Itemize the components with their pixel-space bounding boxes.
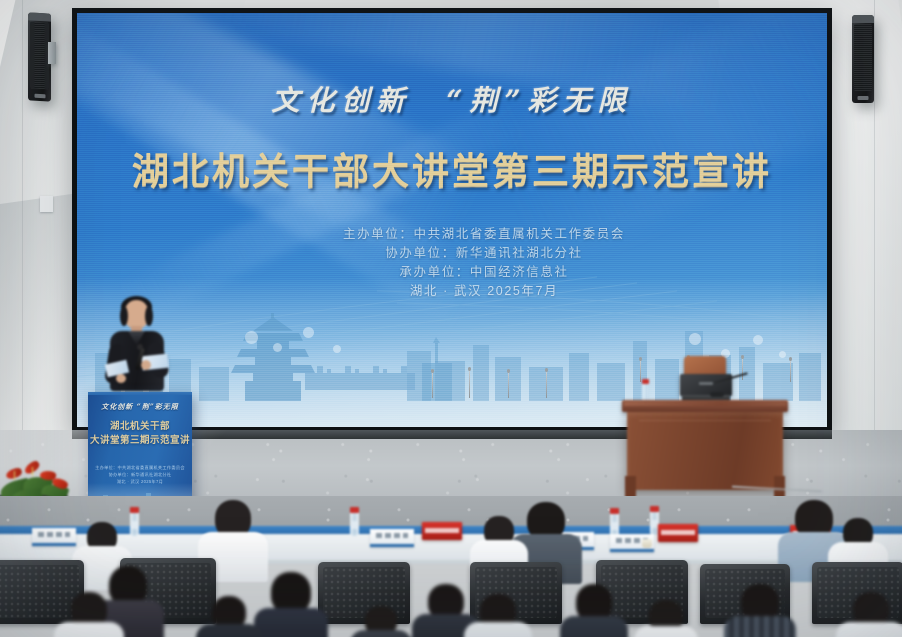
audience-member <box>724 584 796 637</box>
audience-member <box>464 594 532 637</box>
desk-microphone-base <box>710 392 724 397</box>
red-gift-box <box>658 524 698 542</box>
presenter-hand-left <box>116 374 126 383</box>
podium-org-line-2: 协办单位：新华通讯社湖北分社 <box>88 471 192 478</box>
audience-torso <box>54 622 124 637</box>
speaker-logo-left <box>34 94 45 99</box>
audience-torso <box>464 622 532 637</box>
podium-title-line-2: 大讲堂第三期示范宣讲 <box>88 434 192 448</box>
audience-torso <box>196 624 262 637</box>
mic-stand-5 <box>640 360 641 382</box>
presenter-hair-side-right <box>145 306 153 326</box>
mic-stand-4 <box>546 371 547 398</box>
wall-seam-left <box>22 0 23 470</box>
desk-water-bottle <box>642 383 649 401</box>
mic-stand-7 <box>742 358 743 380</box>
audience-torso <box>254 608 328 637</box>
audience-area <box>0 496 902 637</box>
conference-hall-photo: 文化创新 “荆”彩无限 湖北机关干部大讲堂第三期示范宣讲 主办单位：中共湖北省委… <box>0 0 902 637</box>
presenter-hair-side-left <box>120 306 128 326</box>
speaker-desk <box>622 400 788 498</box>
wall-speaker-right <box>852 15 874 103</box>
anthurium-stem-2 <box>32 467 33 476</box>
presenter-hand-right <box>141 360 151 370</box>
laptop-logo <box>699 382 713 385</box>
speaker-cap-left <box>28 12 51 21</box>
desk-top-surface <box>622 400 788 412</box>
audience-member <box>54 592 124 637</box>
tea-cup <box>642 539 652 548</box>
speaker-grill-left <box>30 22 49 90</box>
speaker-mount-left <box>48 42 56 64</box>
mic-stand-2 <box>469 370 470 398</box>
podium-top-edge <box>88 392 192 395</box>
audience-member <box>560 584 628 637</box>
audience-torso <box>634 626 698 637</box>
wall-socket <box>40 196 53 212</box>
audience-member <box>350 606 412 637</box>
desk-leg-left <box>625 476 636 498</box>
water-bottle <box>350 512 359 536</box>
audience-torso <box>836 622 902 637</box>
presenter-microphone-head <box>137 344 143 350</box>
speaker-grill-right <box>854 24 872 91</box>
wall-seam-right <box>874 0 875 470</box>
red-gift-box <box>422 522 462 540</box>
laptop-screen <box>680 374 732 396</box>
mic-stand-8 <box>790 360 791 382</box>
audience-member <box>254 572 328 637</box>
podium-subtitle: 文化创新 “荆”彩无限 <box>88 402 192 412</box>
audience-torso <box>350 630 412 637</box>
desk-front-panel <box>627 412 783 490</box>
audience-torso <box>560 616 628 637</box>
desk-top-face <box>624 401 786 406</box>
audience-member <box>634 600 698 637</box>
name-card <box>370 529 414 547</box>
speaker-logo-right <box>858 96 869 100</box>
anthurium-stem-1 <box>14 471 15 480</box>
desk-panel-line <box>639 420 771 480</box>
podium-title-line-1: 湖北机关干部 <box>88 420 192 434</box>
name-card <box>32 528 76 546</box>
audience-member <box>196 596 262 637</box>
podium-org-line-1: 主办单位：中共湖北省委直属机关工作委员会 <box>88 464 192 471</box>
desk-water-bottle-cap <box>642 379 649 384</box>
audience-member <box>836 592 902 637</box>
presenter <box>98 300 176 400</box>
speaker-cap-right <box>852 15 874 23</box>
mic-stand-1 <box>432 372 433 398</box>
podium-title: 湖北机关干部 大讲堂第三期示范宣讲 <box>88 420 192 448</box>
mic-stand-3 <box>508 372 509 398</box>
audience-torso <box>724 616 796 637</box>
